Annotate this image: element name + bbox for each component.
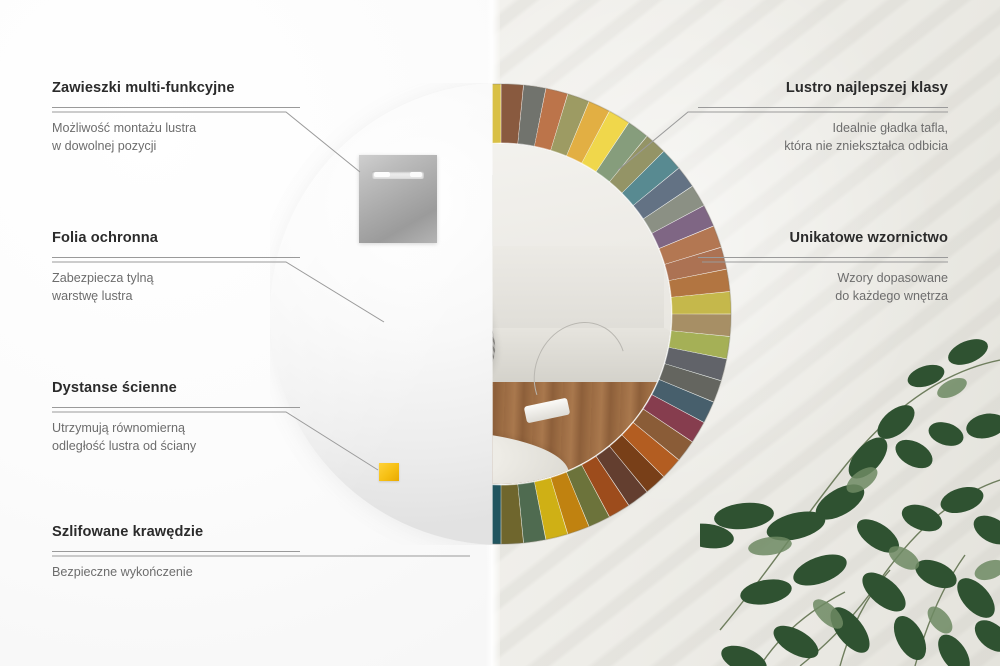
callout-title: Dystanse ścienne [52, 380, 300, 398]
callout-desc-line1: Utrzymują równomierną [52, 419, 300, 438]
callout-desc-line1: Zabezpiecza tylną [52, 269, 300, 288]
callout-title: Zawieszki multi-funkcyjne [52, 80, 300, 98]
hanger-slot [372, 171, 423, 179]
callout-desc-line1: Wzory dopasowane [698, 269, 948, 288]
callout-protective-foil: Folia ochronna Zabezpiecza tylną warstwę… [52, 230, 300, 306]
callout-rule [52, 257, 300, 258]
callout-title: Folia ochronna [52, 230, 300, 248]
callout-desc-line2: w dowolnej pozycji [52, 137, 300, 156]
callout-rule [52, 407, 300, 408]
infographic-canvas: Zawieszki multi-funkcyjne Możliwość mont… [0, 0, 1000, 666]
callout-title: Lustro najlepszej klasy [698, 80, 948, 98]
callout-desc-line2: odległość lustra od ściany [52, 437, 300, 456]
callout-desc-line2: która nie zniekształca odbicia [698, 137, 948, 156]
callout-wall-spacers: Dystanse ścienne Utrzymują równomierną o… [52, 380, 300, 456]
callout-polished-edges: Szlifowane krawędzie Bezpieczne wykończe… [52, 524, 300, 581]
callout-rule [52, 551, 300, 552]
callout-desc-line1: Idealnie gładka tafla, [698, 119, 948, 138]
yellow-spacer [379, 463, 399, 481]
callout-top-class-mirror: Lustro najlepszej klasy Idealnie gładka … [698, 80, 948, 156]
callout-hangers: Zawieszki multi-funkcyjne Możliwość mont… [52, 80, 300, 156]
callout-rule [698, 107, 948, 108]
callout-unique-design: Unikatowe wzornictwo Wzory dopasowane do… [698, 230, 948, 306]
callout-desc-line1: Możliwość montażu lustra [52, 119, 300, 138]
round-mirror [270, 83, 732, 545]
callout-title: Unikatowe wzornictwo [698, 230, 948, 248]
callout-title: Szlifowane krawędzie [52, 524, 300, 542]
hanger-plate [359, 155, 437, 243]
callout-desc-line1: Bezpieczne wykończenie [52, 563, 300, 582]
callout-rule [52, 107, 300, 108]
callout-desc-line2: warstwę lustra [52, 287, 300, 306]
callout-rule [698, 257, 948, 258]
callout-desc-line2: do każdego wnętrza [698, 287, 948, 306]
eucalyptus-branches [700, 330, 1000, 666]
